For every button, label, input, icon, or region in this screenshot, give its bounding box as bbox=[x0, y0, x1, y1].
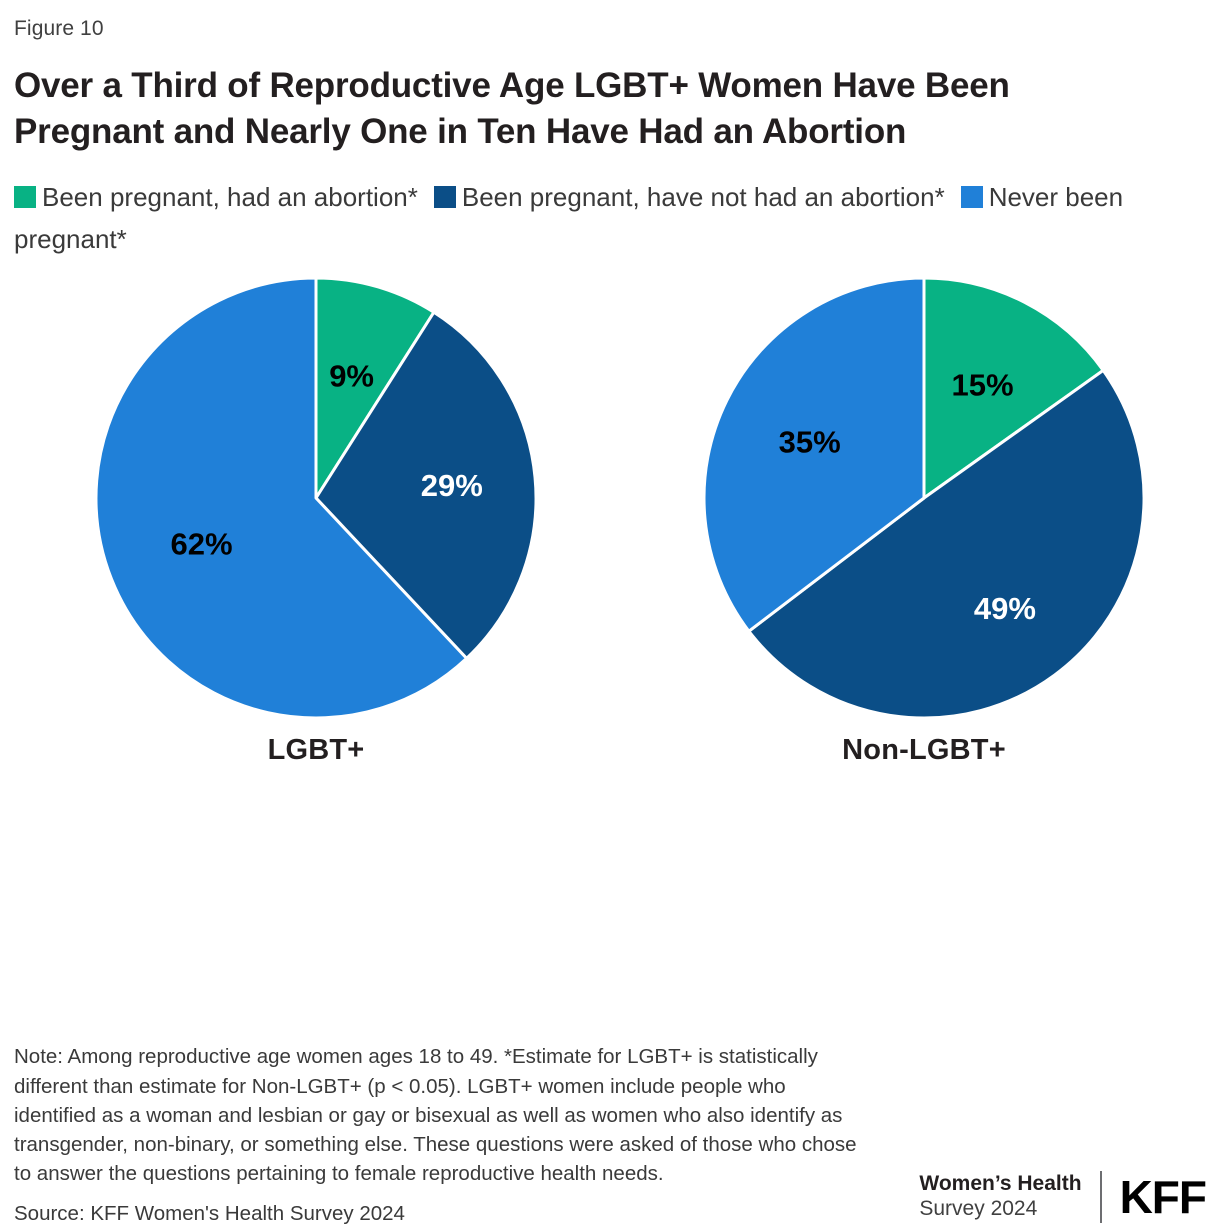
brand-block: Women’s Health Survey 2024 KFF bbox=[919, 1170, 1206, 1224]
legend-item-abortion: Been pregnant, had an abortion* bbox=[14, 182, 418, 212]
brand-survey-text: Women’s Health Survey 2024 bbox=[919, 1172, 1081, 1222]
brand-survey-title: Women’s Health bbox=[919, 1172, 1081, 1197]
legend-swatch-green bbox=[14, 186, 36, 208]
pie-chart-lgbt: 9%29%62% LGBT+ bbox=[86, 274, 546, 767]
kff-logo: KFF bbox=[1120, 1170, 1206, 1224]
figure-number: Figure 10 bbox=[14, 0, 1206, 41]
pie-svg-lgbt: 9%29%62% bbox=[92, 274, 540, 722]
chart-title: Over a Third of Reproductive Age LGBT+ W… bbox=[14, 63, 1174, 154]
pie-slices-non-lgbt bbox=[704, 278, 1144, 718]
legend-label-0: Been pregnant, had an abortion* bbox=[42, 182, 418, 212]
legend-swatch-blue bbox=[961, 186, 983, 208]
pie-slice-value-label: 49% bbox=[974, 591, 1036, 626]
figure-footer: Note: Among reproductive age women ages … bbox=[14, 1042, 1206, 1226]
figure-page: Figure 10 Over a Third of Reproductive A… bbox=[0, 0, 1220, 1230]
legend-swatch-navy bbox=[434, 186, 456, 208]
chart-title-line-1: Over a Third of Reproductive Age LGBT+ W… bbox=[14, 63, 1174, 109]
legend-label-1: Been pregnant, have not had an abortion* bbox=[462, 182, 945, 212]
figure-note: Note: Among reproductive age women ages … bbox=[14, 1042, 869, 1188]
pie-slice-value-label: 62% bbox=[170, 527, 232, 562]
legend-item-no-abortion: Been pregnant, have not had an abortion* bbox=[434, 182, 945, 212]
pie-slice-value-label: 35% bbox=[779, 425, 841, 460]
chart-legend: Been pregnant, had an abortion*Been preg… bbox=[14, 176, 1144, 260]
pie-slice-value-label: 29% bbox=[421, 469, 483, 504]
pie-label-lgbt: LGBT+ bbox=[86, 734, 546, 767]
pie-slice-value-label: 15% bbox=[951, 368, 1013, 403]
brand-divider bbox=[1100, 1171, 1102, 1223]
chart-title-line-2: Pregnant and Nearly One in Ten Have Had … bbox=[14, 109, 1174, 155]
pie-chart-non-lgbt: 15%49%35% Non-LGBT+ bbox=[694, 274, 1154, 767]
pie-svg-non-lgbt: 15%49%35% bbox=[700, 274, 1148, 722]
pie-label-non-lgbt: Non-LGBT+ bbox=[694, 734, 1154, 767]
charts-container: 9%29%62% LGBT+ 15%49%35% Non-LGBT+ bbox=[14, 274, 1206, 794]
pie-slice-value-label: 9% bbox=[329, 359, 374, 394]
brand-survey-year: Survey 2024 bbox=[919, 1197, 1081, 1222]
